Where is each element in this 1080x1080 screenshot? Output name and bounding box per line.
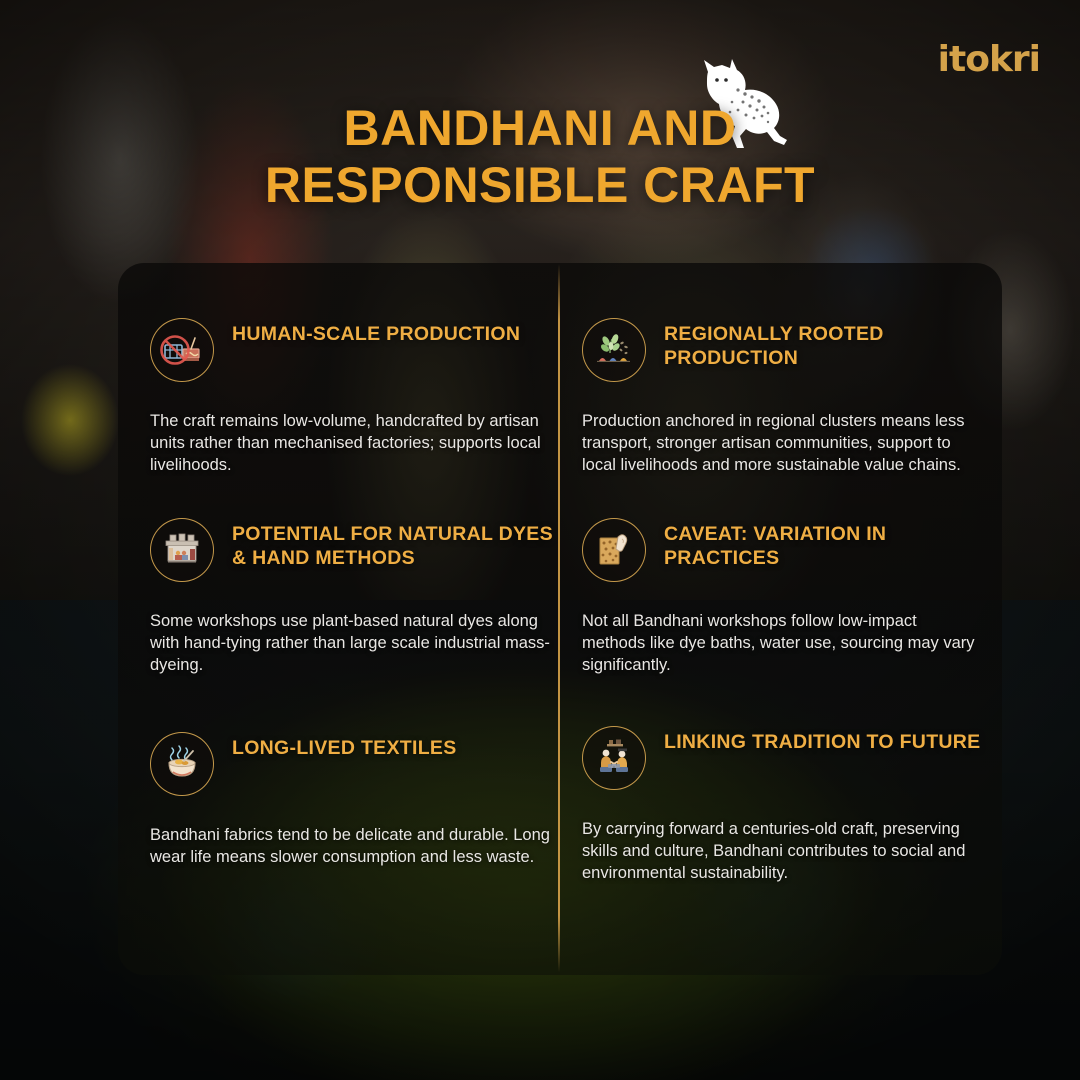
craft-workshop-building-icon — [150, 518, 214, 582]
title-line-1: BANDHANI AND — [343, 100, 736, 156]
feature-title: LINKING TRADITION TO FUTURE — [664, 726, 980, 755]
feature-title: LONG-LIVED TEXTILES — [232, 732, 457, 761]
two-artisans-working-icon — [582, 726, 646, 790]
plant-leaves-dye-powder-icon — [582, 318, 646, 382]
feature-body: Bandhani fabrics tend to be delicate and… — [150, 824, 550, 868]
feature-title: REGIONALLY ROOTED PRODUCTION — [664, 318, 1002, 371]
feature-body: Production anchored in regional clusters… — [582, 410, 982, 476]
feature-header: REGIONALLY ROOTED PRODUCTION — [582, 318, 1002, 382]
feature-header: CAVEAT: VARIATION IN PRACTICES — [582, 518, 1002, 582]
page-title: BANDHANI AND RESPONSIBLE CRAFT — [0, 100, 1080, 214]
infographic-poster: itokri BANDHANI AND RESPONSIBLE CRAFT — [0, 0, 1080, 1080]
feature-title: HUMAN-SCALE PRODUCTION — [232, 318, 520, 347]
steaming-dye-pot-icon — [150, 732, 214, 796]
feature-body: Some workshops use plant-based natural d… — [150, 610, 550, 676]
feature-item-linking-tradition-to-future: LINKING TRADITION TO FUTURE By carrying … — [582, 726, 1002, 884]
feature-item-human-scale-production: HUMAN-SCALE PRODUCTION The craft remains… — [150, 318, 570, 476]
feature-item-natural-dyes-hand-methods: POTENTIAL FOR NATURAL DYES & HAND METHOD… — [150, 518, 570, 676]
feature-body: By carrying forward a centuries-old craf… — [582, 818, 982, 884]
feature-body: Not all Bandhani workshops follow low-im… — [582, 610, 982, 676]
feature-title: POTENTIAL FOR NATURAL DYES & HAND METHOD… — [232, 518, 570, 571]
no-factory-machine-icon — [150, 318, 214, 382]
feature-item-regionally-rooted-production: REGIONALLY ROOTED PRODUCTION Production … — [582, 318, 1002, 476]
feature-item-long-lived-textiles: LONG-LIVED TEXTILES Bandhani fabrics ten… — [150, 732, 570, 868]
feature-header: HUMAN-SCALE PRODUCTION — [150, 318, 570, 382]
feature-header: POTENTIAL FOR NATURAL DYES & HAND METHOD… — [150, 518, 570, 582]
hand-holding-patterned-fabric-icon — [582, 518, 646, 582]
feature-title: CAVEAT: VARIATION IN PRACTICES — [664, 518, 1002, 571]
title-line-2: RESPONSIBLE CRAFT — [120, 157, 960, 214]
itokri-logo-text: itokri — [938, 39, 1040, 80]
feature-item-caveat-variation-in-practices: CAVEAT: VARIATION IN PRACTICES Not all B… — [582, 518, 1002, 676]
feature-header: LINKING TRADITION TO FUTURE — [582, 726, 1002, 790]
feature-body: The craft remains low-volume, handcrafte… — [150, 410, 550, 476]
itokri-logo: itokri — [938, 42, 1040, 78]
feature-header: LONG-LIVED TEXTILES — [150, 732, 570, 796]
